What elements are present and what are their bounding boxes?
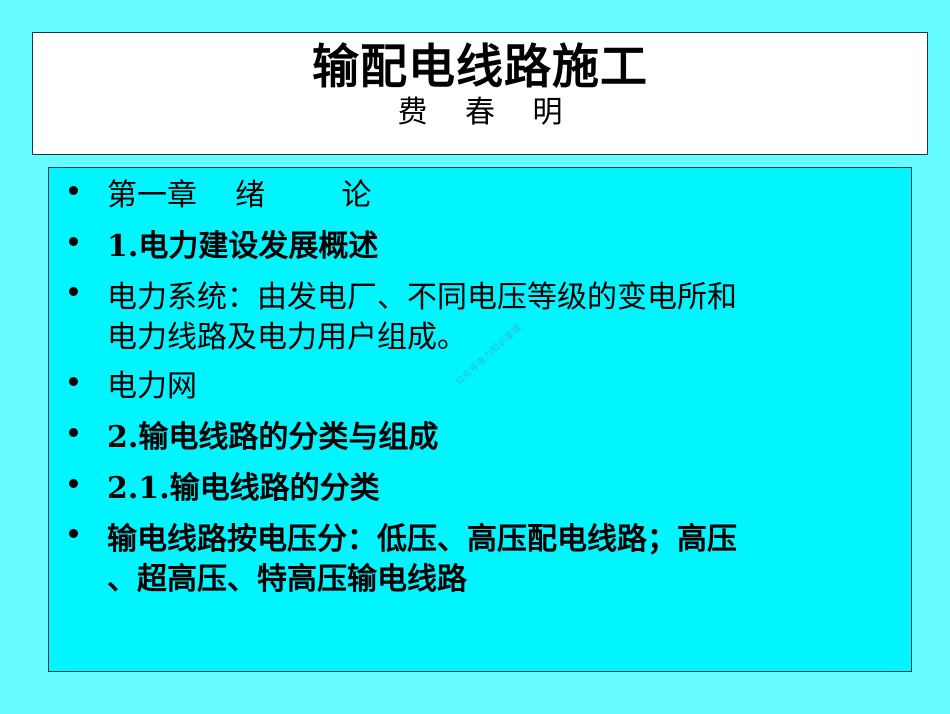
list-item: 2.1.输电线路的分类 (63, 469, 897, 510)
list-item-label: 2.输电线路的分类与组成 (107, 418, 897, 459)
bullet-list: 第一章 绪 论 1.电力建设发展概述 电力系统：由发电厂、不同电压等级的变电所和… (49, 176, 897, 601)
list-item: 电力网 (63, 367, 897, 408)
list-item-label-line2: 电力线路及电力用户组成。 (107, 318, 897, 359)
bullet-dot-icon (69, 287, 78, 296)
list-item: 输电线路按电压分：低压、高压配电线路；高压 、超高压、特高压输电线路 (63, 520, 897, 602)
bullet-dot-icon (69, 479, 78, 488)
list-item-label: 2.1.输电线路的分类 (107, 469, 897, 510)
bullet-dot-icon (69, 529, 78, 538)
bullet-dot-icon (69, 428, 78, 437)
list-item-label: 电力网 (107, 367, 897, 408)
list-item-label: 电力系统：由发电厂、不同电压等级的变电所和 (107, 278, 897, 319)
list-item: 电力系统：由发电厂、不同电压等级的变电所和 电力线路及电力用户组成。 (63, 278, 897, 360)
list-item-label: 第一章 绪 论 (107, 176, 897, 217)
list-item: 第一章 绪 论 (63, 176, 897, 217)
list-item: 1.电力建设发展概述 (63, 227, 897, 268)
list-item-label-line2: 、超高压、特高压输电线路 (107, 560, 897, 601)
content-box: 第一章 绪 论 1.电力建设发展概述 电力系统：由发电厂、不同电压等级的变电所和… (48, 167, 912, 672)
bullet-dot-icon (69, 377, 78, 386)
list-item-label: 1.电力建设发展概述 (107, 227, 897, 268)
list-item: 2.输电线路的分类与组成 (63, 418, 897, 459)
list-item-label: 输电线路按电压分：低压、高压配电线路；高压 (107, 520, 897, 561)
bullet-dot-icon (69, 186, 78, 195)
page-title: 输配电线路施工 (312, 39, 648, 96)
title-box: 输配电线路施工 费 春 明 (32, 32, 928, 155)
bullet-dot-icon (69, 237, 78, 246)
author-name: 费 春 明 (383, 94, 576, 132)
slide: 输配电线路施工 费 春 明 第一章 绪 论 1.电力建设发展概述 电力系统：由发… (0, 0, 950, 714)
